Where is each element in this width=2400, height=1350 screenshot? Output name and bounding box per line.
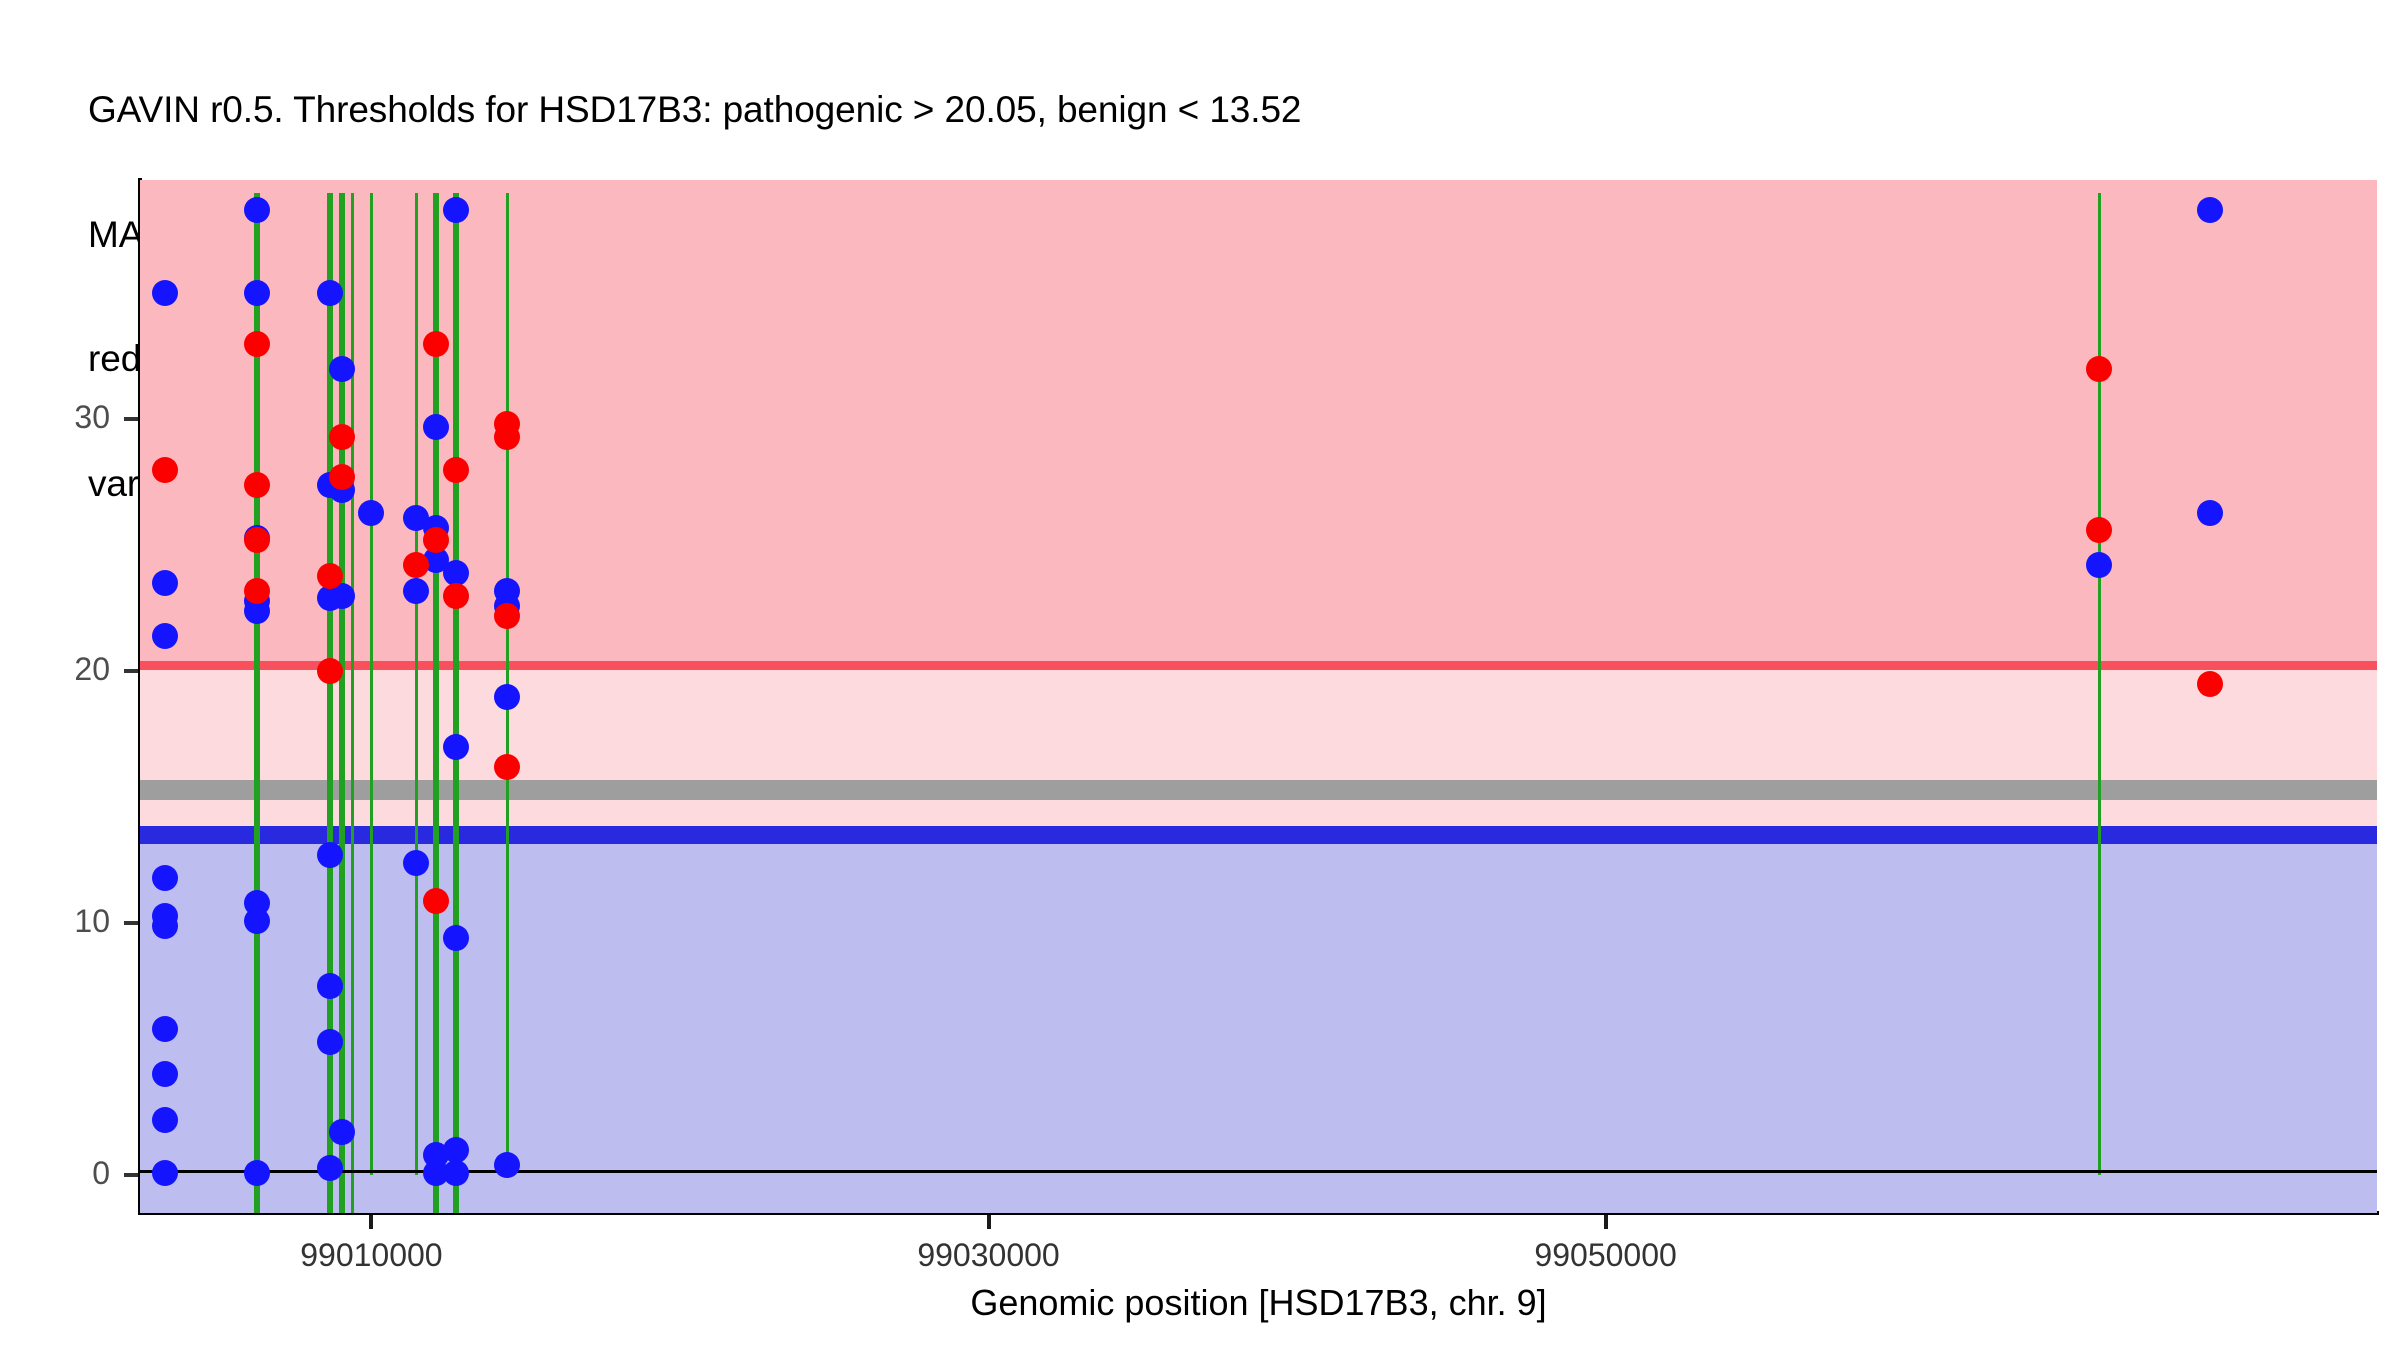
title-line-1: GAVIN r0.5. Thresholds for HSD17B3: path… <box>88 89 2288 131</box>
pathogenic-variant-point <box>244 331 270 357</box>
benign-variant-point <box>403 578 429 604</box>
benign-variant-point <box>244 908 270 934</box>
benign-variant-point <box>152 1061 178 1087</box>
benign-variant-point <box>423 414 449 440</box>
x-tick-mark <box>987 1215 991 1229</box>
benign-variant-point <box>317 842 343 868</box>
zero-baseline <box>140 1170 2377 1173</box>
refseq-exon-line <box>453 193 459 1213</box>
benign-variant-point <box>152 865 178 891</box>
benign-variant-point <box>152 1107 178 1133</box>
benign-variant-point <box>152 913 178 939</box>
x-tick-mark <box>1604 1215 1608 1229</box>
x-tick-label: 99010000 <box>241 1237 501 1274</box>
band-pathogenic <box>140 180 2377 670</box>
benign-variant-point <box>317 280 343 306</box>
band-benign-threshold <box>140 826 2377 844</box>
pathogenic-variant-point <box>329 424 355 450</box>
pathogenic-variant-point <box>423 888 449 914</box>
refseq-exon-line <box>415 193 418 1176</box>
benign-variant-point <box>152 570 178 596</box>
benign-variant-point <box>152 280 178 306</box>
x-tick-label: 99030000 <box>859 1237 1119 1274</box>
band-benign <box>140 835 2377 1213</box>
pathogenic-variant-point <box>423 331 449 357</box>
refseq-exon-line <box>370 193 373 1176</box>
benign-variant-point <box>152 1160 178 1186</box>
benign-variant-point <box>152 1016 178 1042</box>
pathogenic-variant-point <box>244 472 270 498</box>
benign-variant-point <box>2197 500 2223 526</box>
benign-variant-point <box>403 850 429 876</box>
benign-variant-point <box>152 623 178 649</box>
pathogenic-variant-point <box>244 578 270 604</box>
pathogenic-variant-point <box>494 424 520 450</box>
refseq-exon-line <box>351 193 354 1213</box>
plot-area <box>140 180 2377 1213</box>
pathogenic-variant-point <box>317 658 343 684</box>
benign-variant-point <box>317 973 343 999</box>
benign-variant-point <box>443 1160 469 1186</box>
pathogenic-variant-point <box>443 457 469 483</box>
benign-variant-point <box>443 734 469 760</box>
benign-variant-point <box>317 1029 343 1055</box>
band-fallback-grey <box>140 780 2377 800</box>
x-tick-label: 99050000 <box>1476 1237 1736 1274</box>
refseq-exon-line <box>2098 193 2101 1176</box>
y-axis-title-wrap: CADD scaled C-score <box>0 0 140 1350</box>
benign-variant-point <box>244 1160 270 1186</box>
benign-variant-point <box>329 356 355 382</box>
band-inconclusive <box>140 670 2377 835</box>
benign-variant-point <box>494 684 520 710</box>
pathogenic-variant-point <box>443 583 469 609</box>
pathogenic-variant-point <box>494 603 520 629</box>
x-axis-title: Genomic position [HSD17B3, chr. 9] <box>140 1282 2377 1324</box>
refseq-exon-line <box>339 193 345 1213</box>
benign-variant-point <box>358 500 384 526</box>
pathogenic-variant-point <box>317 563 343 589</box>
refseq-exon-line <box>327 193 333 1213</box>
y-axis-title: CADD scaled C-score <box>0 0 5 1051</box>
pathogenic-variant-point <box>152 457 178 483</box>
chart-figure: GAVIN r0.5. Thresholds for HSD17B3: path… <box>0 0 2400 1350</box>
benign-variant-point <box>317 1155 343 1181</box>
x-tick-mark <box>369 1215 373 1229</box>
